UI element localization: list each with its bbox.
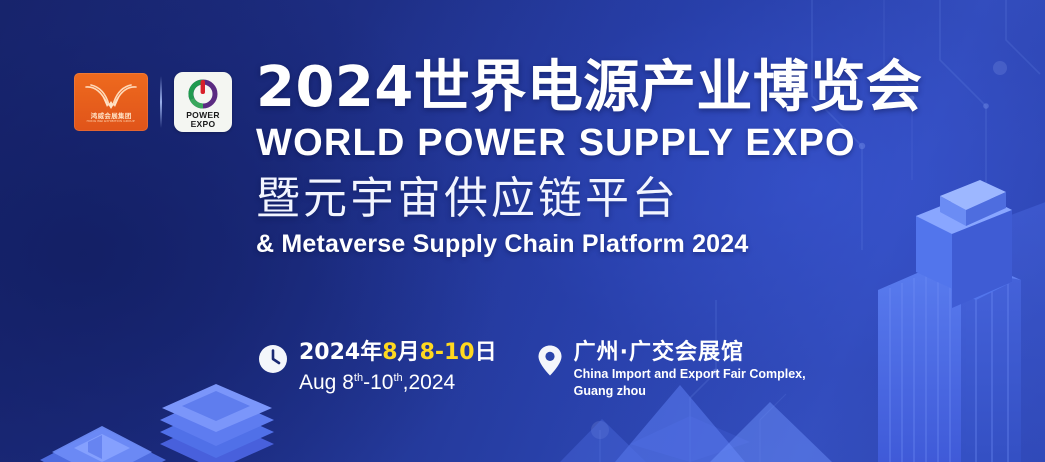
logo-divider xyxy=(160,76,162,128)
title-en: WORLD POWER SUPPLY EXPO xyxy=(256,120,976,166)
date-cn-day-unit: 日 xyxy=(475,340,497,365)
event-date: 2024年8月8-10日 Aug 8th-10th,2024 xyxy=(258,340,497,395)
date-en-text: Aug 8th-10th,2024 xyxy=(299,366,497,395)
date-cn-days: 8-10 xyxy=(420,340,475,365)
date-en-mid: -10 xyxy=(363,371,393,394)
date-en-sup1: th xyxy=(354,372,363,384)
hongwei-group-logo[interactable]: 鸿威会展集团 HONG WEI EXHIBITION GROUP xyxy=(74,73,148,131)
date-cn-month-unit: 月 xyxy=(398,340,420,365)
subtitle-en: & Metaverse Supply Chain Platform 2024 xyxy=(256,228,976,260)
wings-icon xyxy=(82,81,140,111)
power-button-icon xyxy=(186,78,220,110)
date-en-sup2: th xyxy=(393,372,402,384)
isometric-blocks-decoration xyxy=(30,348,290,462)
date-cn-text: 2024年8月8-10日 xyxy=(299,340,497,365)
clock-icon xyxy=(258,344,288,374)
logo-group: 鸿威会展集团 HONG WEI EXHIBITION GROUP POWER E… xyxy=(74,72,232,132)
power-expo-logo[interactable]: POWER EXPO xyxy=(174,72,232,132)
hongwei-en-label: HONG WEI EXHIBITION GROUP xyxy=(87,120,135,123)
power-expo-label: POWER EXPO xyxy=(186,111,220,130)
venue-en-line1: China Import and Export Fair Complex, xyxy=(574,367,806,382)
location-pin-icon xyxy=(537,344,563,377)
subtitle-cn: 暨元宇宙供应链平台 xyxy=(256,172,976,226)
date-en-prefix: Aug 8 xyxy=(299,371,354,394)
title-cn: 2024世界电源产业博览会 xyxy=(256,58,976,118)
event-info-row: 2024年8月8-10日 Aug 8th-10th,2024 广州·广交会展馆 … xyxy=(258,340,806,399)
date-en-suffix: ,2024 xyxy=(403,371,456,394)
event-venue: 广州·广交会展馆 China Import and Export Fair Co… xyxy=(537,340,806,399)
headline-block: 2024世界电源产业博览会 WORLD POWER SUPPLY EXPO 暨元… xyxy=(256,58,976,260)
event-banner: 鸿威会展集团 HONG WEI EXHIBITION GROUP POWER E… xyxy=(0,0,1045,462)
venue-en-line2: Guang zhou xyxy=(574,384,806,399)
power-expo-line2: EXPO xyxy=(186,120,220,130)
date-cn-month: 8 xyxy=(382,340,397,365)
venue-cn-text: 广州·广交会展馆 xyxy=(574,340,806,365)
date-cn-year: 2024年 xyxy=(299,340,382,365)
